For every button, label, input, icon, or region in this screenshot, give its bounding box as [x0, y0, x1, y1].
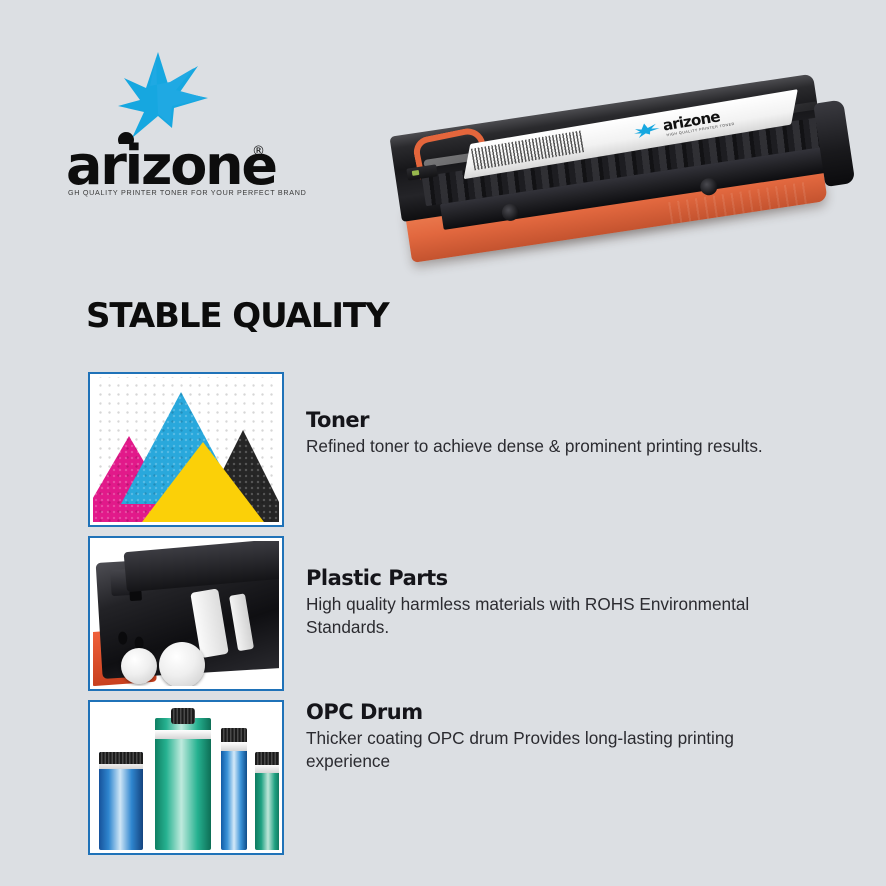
- drum-ring: [255, 764, 279, 773]
- drum-cap: [255, 752, 279, 765]
- opc-drum-blue-medium: [221, 730, 247, 850]
- drum-cap: [221, 728, 247, 742]
- feature-heading: Toner: [306, 408, 846, 432]
- brand-tagline: GH QUALITY PRINTER TONER FOR YOUR PERFEC…: [68, 188, 266, 197]
- feature-heading: Plastic Parts: [306, 566, 846, 590]
- yellow-toner-pile: [139, 442, 267, 522]
- cartridge-illustration: arizone HIGH QUALITY PRINTER TONER: [368, 44, 862, 311]
- drum-cap: [171, 708, 195, 724]
- brand-registered-mark: ®: [252, 144, 265, 159]
- bird-logo-icon: [630, 120, 662, 140]
- feature-heading: OPC Drum: [306, 700, 846, 724]
- product-photo: arizone HIGH QUALITY PRINTER TONER: [380, 78, 850, 278]
- plastic-parts-image: [88, 536, 284, 691]
- white-roller: [229, 593, 254, 651]
- feature-text-opc-drum: OPC Drum Thicker coating OPC drum Provid…: [306, 700, 846, 773]
- housing-notch: [129, 590, 142, 601]
- white-gear: [159, 642, 205, 686]
- opc-drum-image: [88, 700, 284, 855]
- drum-ring: [221, 742, 247, 751]
- feature-description: Refined toner to achieve dense & promine…: [306, 435, 776, 458]
- list-item: Toner Refined toner to achieve dense & p…: [88, 372, 848, 527]
- page-title: STABLE QUALITY: [86, 296, 389, 336]
- opc-drum-green-tall: [155, 718, 211, 850]
- toner-powder-image: [88, 372, 284, 527]
- opc-drum-blue-short: [99, 752, 143, 850]
- opc-drum-green-short: [255, 754, 279, 850]
- housing-hole: [118, 631, 128, 645]
- header: arizone ® GH QUALITY PRINTER TONER FOR Y…: [0, 0, 886, 285]
- chip-contact: [412, 170, 420, 176]
- brand-wordmark: arizone: [66, 140, 272, 192]
- brand-logo: arizone ® GH QUALITY PRINTER TONER FOR Y…: [66, 48, 272, 196]
- list-item: OPC Drum Thicker coating OPC drum Provid…: [88, 700, 848, 855]
- cartridge-body: arizone HIGH QUALITY PRINTER TONER: [389, 74, 825, 222]
- feature-text-plastic-parts: Plastic Parts High quality harmless mate…: [306, 566, 846, 639]
- feature-text-toner: Toner Refined toner to achieve dense & p…: [306, 408, 846, 458]
- feature-description: High quality harmless materials with ROH…: [306, 593, 776, 639]
- feature-description: Thicker coating OPC drum Provides long-l…: [306, 727, 776, 773]
- white-gear: [121, 648, 157, 684]
- drum-ring: [155, 730, 211, 739]
- bird-logo-icon: [110, 48, 214, 144]
- drum-cap: [99, 752, 143, 764]
- list-item: Plastic Parts High quality harmless mate…: [88, 536, 848, 691]
